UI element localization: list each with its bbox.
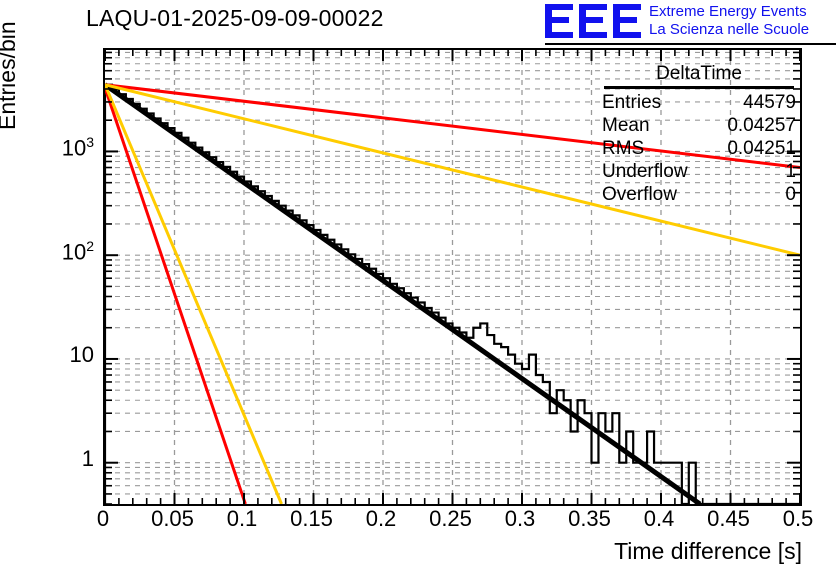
stats-underline bbox=[604, 86, 794, 89]
eee-logo-text: Extreme Energy Events La Scienza nelle S… bbox=[649, 3, 809, 39]
eee-logo: Extreme Energy Events La Scienza nelle S… bbox=[545, 2, 835, 44]
x-axis-tick-4: 0.2 bbox=[341, 506, 421, 532]
x-axis-tick-1: 0.05 bbox=[133, 506, 213, 532]
stats-row-overflow: Overflow0 bbox=[600, 183, 798, 206]
x-axis-tick-3: 0.15 bbox=[272, 506, 352, 532]
x-axis-tick-6: 0.3 bbox=[480, 506, 560, 532]
x-axis-tick-2: 0.1 bbox=[202, 506, 282, 532]
x-axis-title: Time difference [s] bbox=[614, 538, 802, 565]
y-axis-tick-1: 10 bbox=[40, 342, 94, 368]
x-axis-tick-10: 0.5 bbox=[758, 506, 836, 532]
stats-label: Entries bbox=[602, 91, 661, 114]
stats-label: Mean bbox=[602, 114, 650, 137]
stats-row-entries: Entries44579 bbox=[600, 91, 798, 114]
page-title: LAQU-01-2025-09-09-00022 bbox=[86, 5, 384, 32]
x-axis-tick-7: 0.35 bbox=[550, 506, 630, 532]
plot-canvas: LAQU-01-2025-09-09-00022 Extreme Energy … bbox=[0, 0, 836, 572]
y-axis-tick-0: 1 bbox=[40, 446, 94, 472]
x-axis-tick-0: 0 bbox=[63, 506, 143, 532]
stats-value: 0.04257 bbox=[727, 114, 796, 137]
eee-logo-line1: Extreme Energy Events bbox=[649, 3, 809, 21]
stats-label: RMS bbox=[602, 137, 644, 160]
stats-row-mean: Mean0.04257 bbox=[600, 114, 798, 137]
stats-value: 0.04251 bbox=[727, 137, 796, 160]
eee-logo-line2: La Scienza nelle Scuole bbox=[649, 21, 809, 39]
y-axis-tick-2: 102 bbox=[40, 238, 94, 265]
stats-label: Underflow bbox=[602, 160, 688, 183]
stats-box: DeltaTime Entries44579Mean0.04257RMS0.04… bbox=[600, 62, 798, 206]
y-axis-title: Entries/bin bbox=[0, 21, 21, 130]
y-axis-tick-3: 103 bbox=[40, 134, 94, 161]
stats-row-rms: RMS0.04251 bbox=[600, 137, 798, 160]
x-axis-tick-8: 0.4 bbox=[619, 506, 699, 532]
stats-rows: Entries44579Mean0.04257RMS0.04251Underfl… bbox=[600, 91, 798, 206]
stats-value: 1 bbox=[785, 160, 796, 183]
stats-label: Overflow bbox=[602, 183, 677, 206]
x-axis-tick-9: 0.45 bbox=[689, 506, 769, 532]
x-axis-tick-5: 0.25 bbox=[411, 506, 491, 532]
stats-row-underflow: Underflow1 bbox=[600, 160, 798, 183]
stats-title: DeltaTime bbox=[600, 62, 798, 86]
stats-value: 44579 bbox=[743, 91, 796, 114]
header-rule bbox=[545, 43, 836, 45]
eee-logo-mark bbox=[545, 3, 643, 39]
stats-value: 0 bbox=[785, 183, 796, 206]
